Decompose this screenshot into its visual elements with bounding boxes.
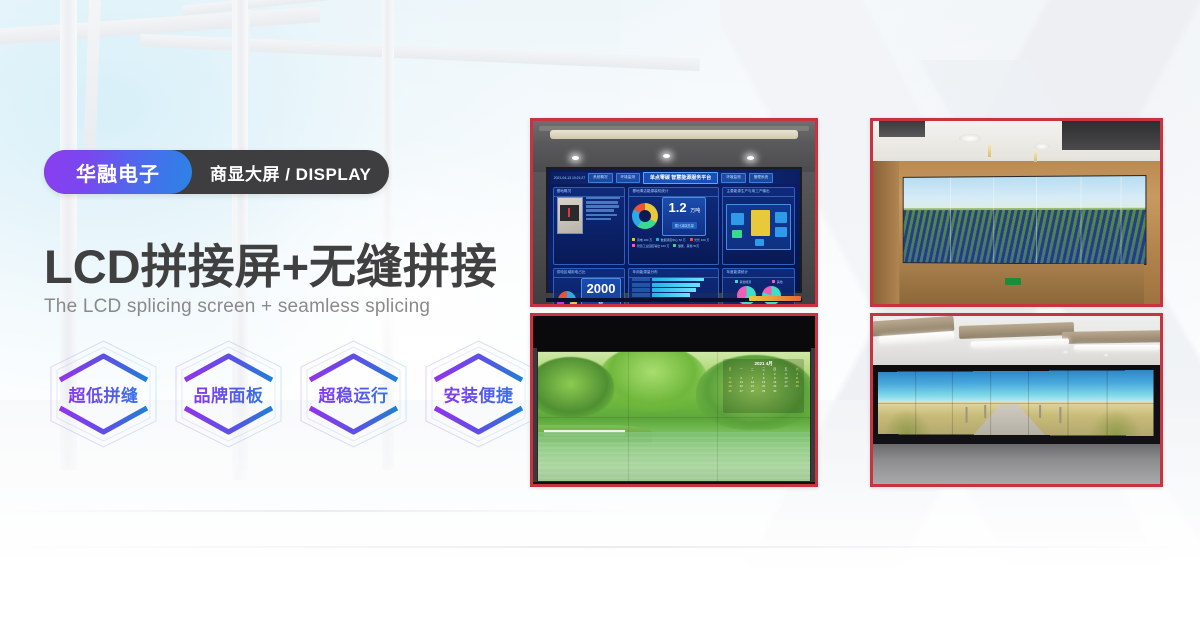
background-floor-line-2 [0,546,1200,548]
calendar-day: 25 [792,385,802,388]
photo-panel-control-room[interactable]: 2021-04-13 10:21:27 系统概况 环境监测 单点零碳 智慧能源服… [530,118,818,307]
dashboard-tab-3[interactable]: 管理系统 [749,173,773,183]
feature-label-1: 品牌面板 [169,382,288,407]
dashboard-timestamp: 2021-04-13 10:21:27 [554,176,585,180]
photo-wood-wall-left [873,161,899,304]
video-wall-screen: 2021 4月 日 一 二 三 四 五 六 123456789101112131… [537,351,811,482]
legend-item: 光伏 100 万 [690,238,710,242]
photo-ceiling-cove [550,130,798,139]
ceiling-duct-right [1062,121,1160,150]
page-subtitle: The LCD splicing screen + seamless splic… [44,296,430,318]
feature-label-0: 超低拼缝 [44,382,163,407]
calendar-day: 24 [781,385,791,388]
card-header: 年度能源统计 [726,270,748,275]
feature-item-3[interactable]: 安装便捷 [419,336,538,452]
calendar-title: 2021 4月 [725,361,802,367]
feature-item-2[interactable]: 超稳运行 [294,336,413,452]
recessed-light [1103,353,1109,357]
dashboard-tab-0[interactable]: 系统概况 [588,173,612,183]
ceiling-duct-left [879,121,925,137]
screen-grass-left [884,410,931,435]
photo-panel-beach-boardwalk[interactable] [870,313,1163,487]
calendar-day [792,390,802,393]
feature-item-0[interactable]: 超低拼缝 [44,336,163,452]
feature-label-2: 超稳运行 [294,382,413,407]
calendar-days: 1234567891011121314151617181920212223242… [725,373,802,394]
bar-row [632,283,715,287]
screen-willow-tree [598,351,707,411]
calendar-day: 28 [747,390,757,393]
chart-legend: 风电 100 万 数据调度中心 50 万 光伏 100 万 智慧工业园区输出 1… [632,238,715,248]
bar-row [632,293,715,297]
background-floor-line-1 [0,510,640,512]
legend-item: 储能、其他 50万 [673,244,699,248]
photo-panel-lakeside[interactable]: 2021 4月 日 一 二 三 四 五 六 123456789101112131… [530,313,818,487]
card-text-lines [586,197,622,261]
badge-category-label: 商显大屏 / DISPLAY [192,160,371,185]
donut-chart [632,203,658,229]
feature-list: 超低拼缝 品牌面板 超稳运行 [44,336,538,452]
card-header: 供电区域用电占比 [557,270,586,275]
pie-legend: 其他能源 其他 [726,280,791,284]
photo-cabinet [900,264,1144,304]
feature-label-3: 安装便捷 [419,382,538,407]
calendar-day: 29 [758,390,768,393]
bar-row [632,288,715,292]
dashboard-top-bar: 2021-04-13 10:21:27 系统概况 环境监测 单点零碳 智慧能源服… [551,172,798,184]
ceiling-light-strip [1074,345,1160,350]
wall-sconce [988,145,991,157]
screen-bezel-seam-horizontal [538,417,810,418]
photo-right-bezel [811,348,815,482]
flow-diagram [726,204,791,250]
brand-badge[interactable]: 华融电子 商显大屏 / DISPLAY [44,150,389,194]
ceiling-spotlight [747,156,754,160]
card-header-rule [629,277,718,278]
feature-item-1[interactable]: 品牌面板 [169,336,288,452]
kpi-main: 1.2 万吨 累计减碳总量 [662,197,706,236]
legend-item: 其他 [772,280,782,284]
screen-sea [879,371,1154,403]
dashboard-card-grid: 基地概况 基地清洁能源装机统计 [551,184,798,304]
calendar-day: 27 [736,390,746,393]
screen-willow-tree [537,357,614,416]
calendar-day: 30 [770,390,780,393]
legend-item: 风电 100 万 [632,238,652,242]
photo-panel-solar-farm[interactable] [870,118,1163,307]
calendar-day [781,390,791,393]
recessed-light [959,134,981,143]
wall-sconce [1034,152,1037,162]
page-title: LCD拼接屏+无缝拼接 [44,228,497,297]
card-header: 基地清洁能源装机统计 [632,189,668,194]
card-header-rule [629,196,718,197]
banner-stage: 华融电子 商显大屏 / DISPLAY LCD拼接屏+无缝拼接 The LCD … [0,0,1200,640]
card-header-rule [723,196,794,197]
legend-item: 智慧工业园区输出 100 万 [632,244,669,248]
card-header: 年用能源量分布 [632,270,657,275]
brand-name: 华融电子 [44,150,192,194]
screen-water [538,432,810,481]
calendar-day: 26 [725,390,735,393]
screen-sky [904,176,1146,211]
ceiling-spotlight [663,154,670,158]
dashboard-card-energy-capacity: 基地清洁能源装机统计 1.2 万吨 累计减碳总量 风电 100 万 数据调度中心… [628,187,719,265]
card-header: 基地概况 [557,189,571,194]
screen-status-tag [749,296,801,301]
photo-floor [873,444,1160,484]
recessed-light [1062,350,1069,354]
video-wall-screen: 2021-04-13 10:21:27 系统概况 环境监测 单点零碳 智慧能源服… [546,167,803,293]
card-header-rule [554,277,625,278]
dashboard-title: 单点零碳 智慧能源服务平台 [643,172,718,184]
photo-upper-bezel [533,316,815,351]
recessed-light [1034,143,1050,150]
card-header-rule [723,277,794,278]
kpi-value: 1.2 万吨 [668,201,700,214]
video-wall-screen [903,175,1147,265]
dashboard-card-production-flow: 主要能源生产与用工产输出 [722,187,795,265]
dashboard-tab-1[interactable]: 环境监测 [616,173,640,183]
calendar-weekdays: 日 一 二 三 四 五 六 [725,368,802,371]
card-thumbnail [557,197,583,234]
screen-grass-right [1090,410,1142,436]
ceiling-slat [1062,330,1160,344]
bar-row [632,278,715,282]
dashboard-tab-2[interactable]: 环境监测 [721,173,745,183]
legend-item: 其他能源 [735,280,751,284]
video-wall-screen [879,371,1154,437]
screen-solar-panels [904,209,1146,263]
legend-item: 数据调度中心 50 万 [656,238,686,242]
kpi-sublabel: 累计减碳总量 [672,222,697,229]
dashboard-card-overview: 基地概况 [553,187,626,265]
exit-sign-icon [1005,278,1021,285]
screen-calendar-widget: 2021 4月 日 一 二 三 四 五 六 123456789101112131… [723,359,804,413]
card-header: 主要能源生产与用工产输出 [726,189,769,194]
